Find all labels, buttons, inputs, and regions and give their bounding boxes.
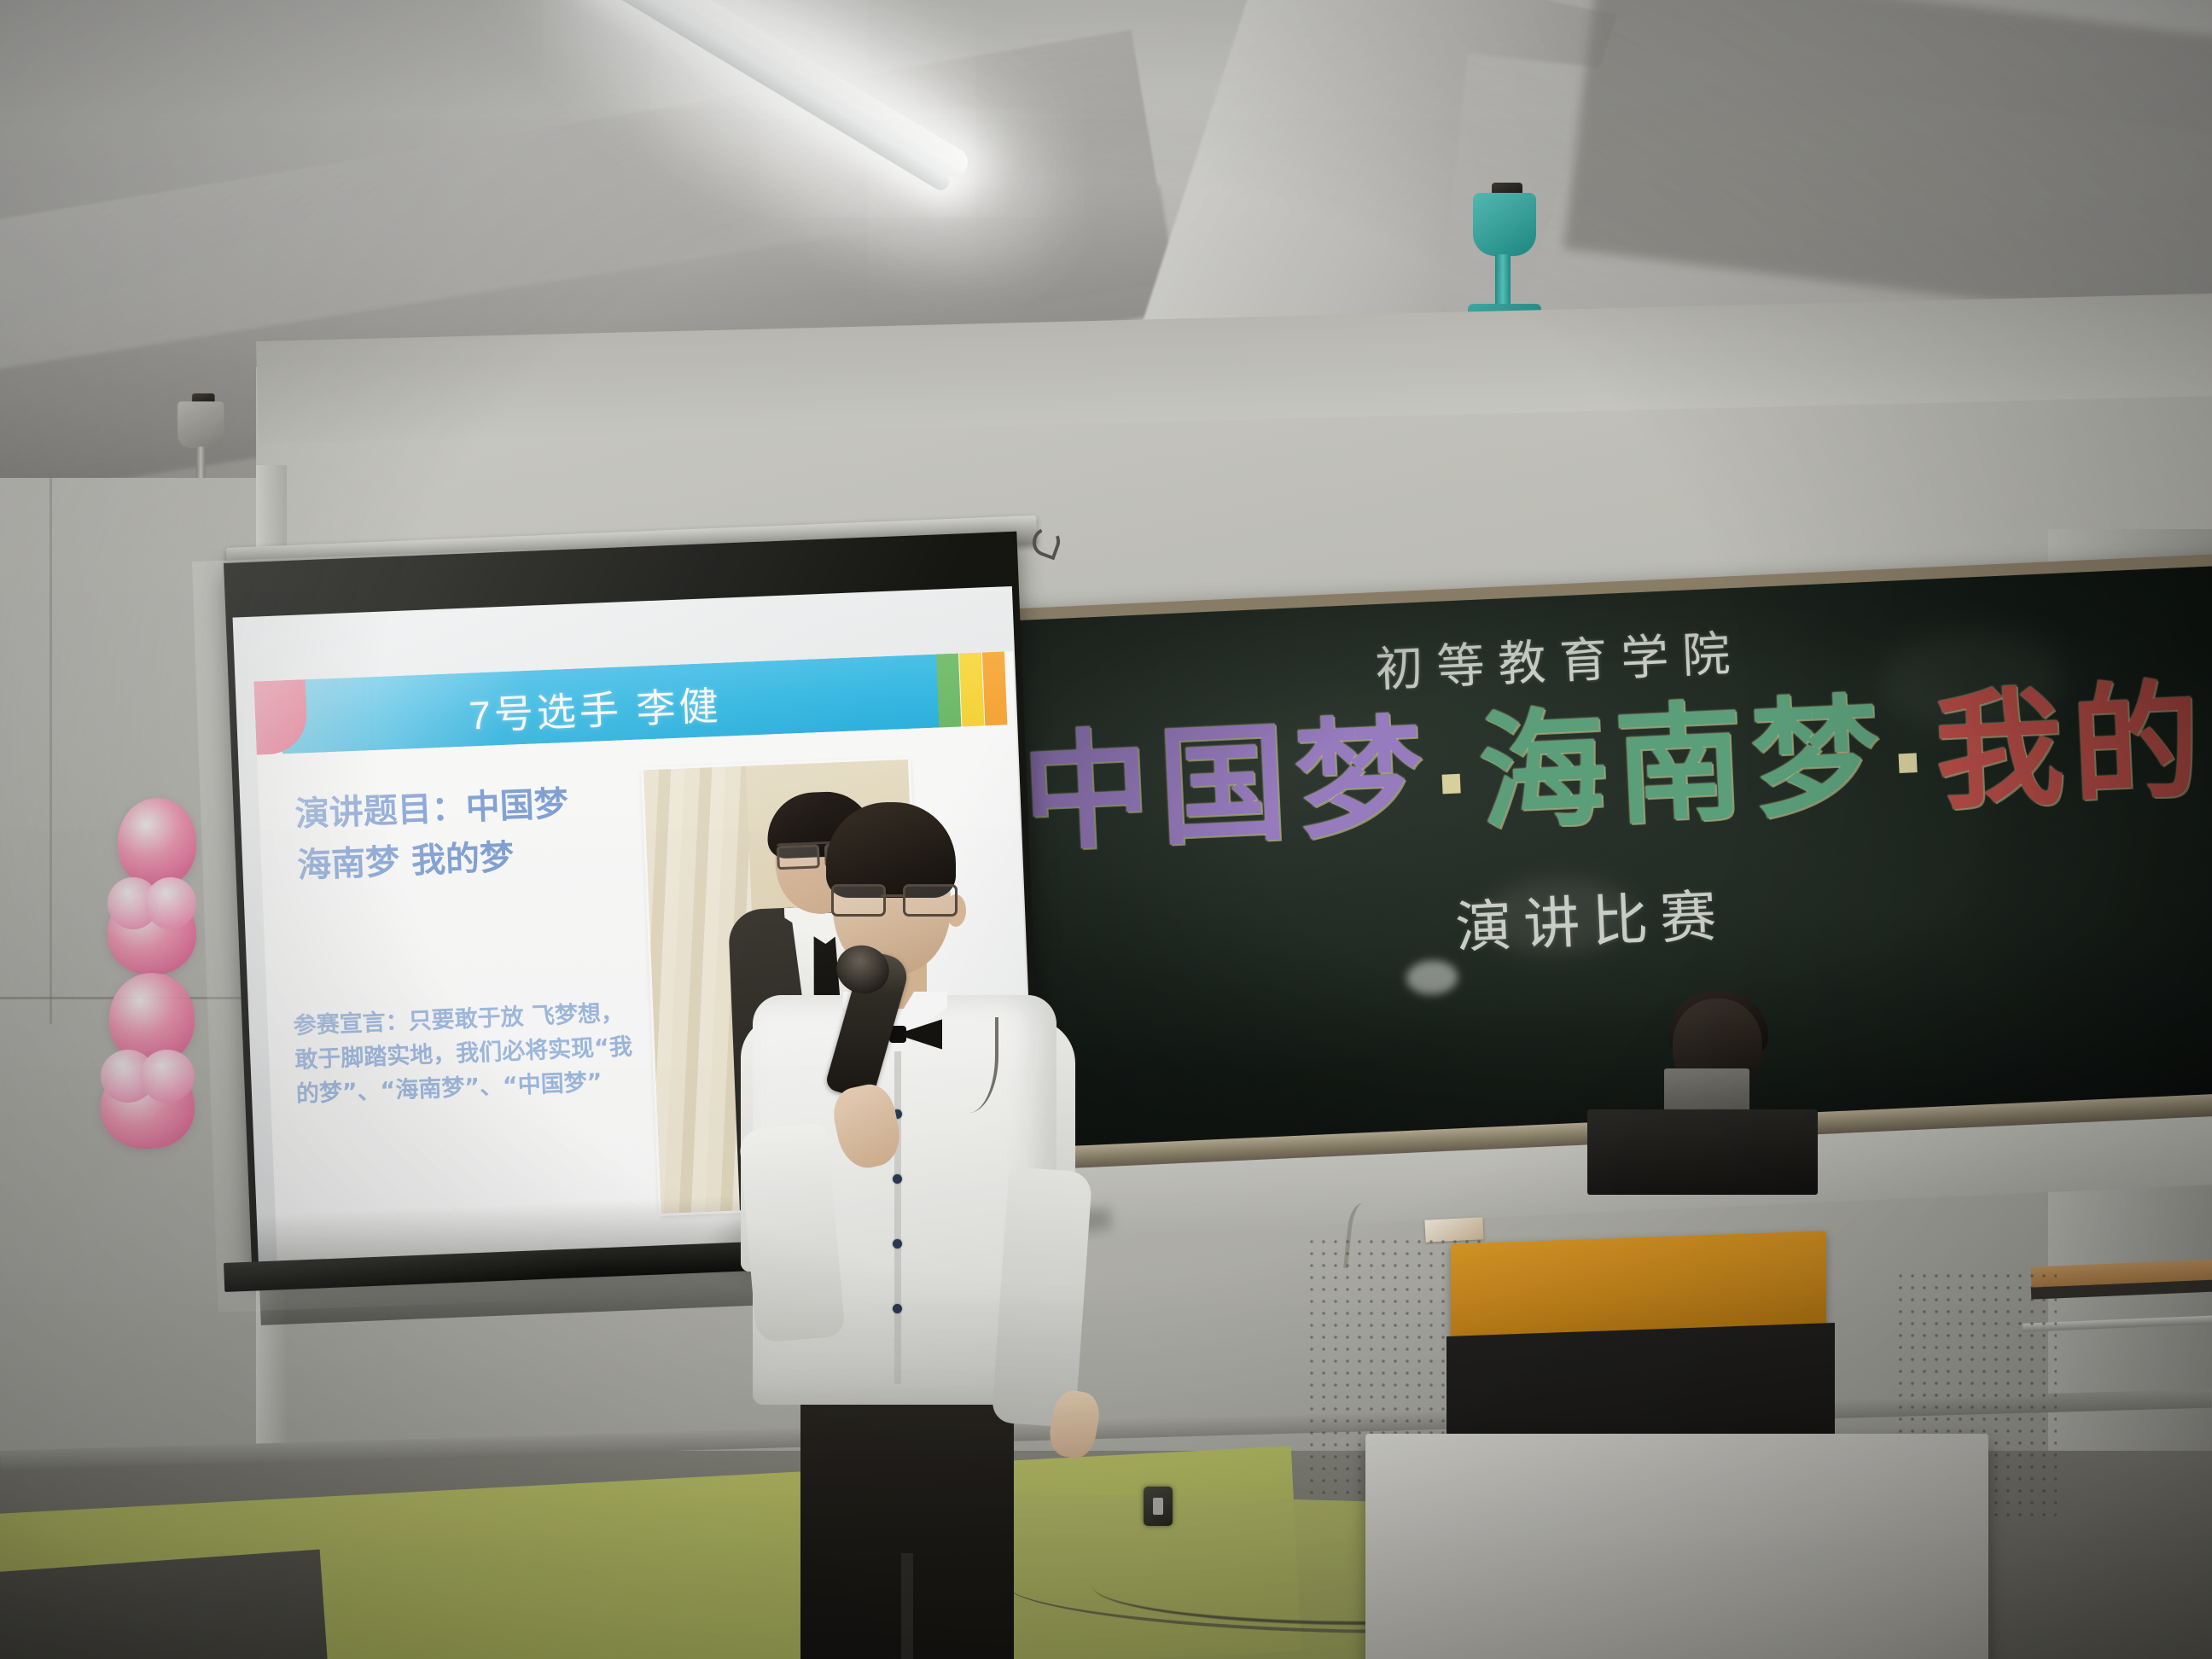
left-wall-vertical-seam xyxy=(49,478,52,1024)
presenter-left-arm xyxy=(738,1123,845,1343)
power-socket-icon xyxy=(1144,1487,1173,1526)
glasses-icon xyxy=(829,884,958,913)
blackboard-surface: 初等教育学院 中国梦·海南梦·我的 演讲比赛 xyxy=(989,566,2212,1150)
classroom-photo-stage: 初等教育学院 中国梦·海南梦·我的 演讲比赛 MITSUBISHI 7号选手 李… xyxy=(0,0,2212,1659)
presenter-shirt-button-2 xyxy=(893,1174,902,1184)
blackboard-headline: 中国梦·海南梦·我的 xyxy=(1019,678,2211,859)
presenter-shirt-button-3 xyxy=(893,1239,902,1249)
blackboard-top-line: 初等教育学院 xyxy=(1374,615,1745,701)
fan-canopy xyxy=(1473,193,1536,256)
presenter-right-arm xyxy=(992,1167,1093,1428)
blackboard-chalk-dust xyxy=(1406,959,1458,996)
podium-monitor xyxy=(1587,1109,1818,1195)
fan-canopy-left xyxy=(178,401,224,448)
headline-sep-2: · xyxy=(1886,713,1938,817)
blackboard: 初等教育学院 中国梦·海南梦·我的 演讲比赛 xyxy=(981,553,2212,1190)
balloon-2 xyxy=(108,879,196,975)
podium xyxy=(1306,1212,2057,1659)
balloon-1 xyxy=(118,798,196,887)
fan-downrod xyxy=(1495,254,1511,307)
balloon-4 xyxy=(101,1050,195,1149)
headline-part-2: 海南梦 xyxy=(1476,692,1891,839)
headline-part-3: 我的 xyxy=(1933,678,2211,818)
presenter xyxy=(734,802,1092,1659)
blackboard-sub-line: 演讲比赛 xyxy=(1453,870,1730,964)
slide-topic-line-2: 海南梦 我的梦 xyxy=(296,829,639,891)
slide-declaration: 参赛宣言：只要敢于放 飞梦想，敢于脚踏实地，我们必将实现“我的梦”、“海南梦”、… xyxy=(293,996,646,1112)
presenter-shirt-placket xyxy=(894,1051,901,1384)
presenter-shirt-button-4 xyxy=(893,1304,902,1313)
presenter-leg-separation xyxy=(901,1553,913,1659)
headline-sep-1: · xyxy=(1429,733,1481,837)
podium-base xyxy=(1365,1434,1988,1659)
